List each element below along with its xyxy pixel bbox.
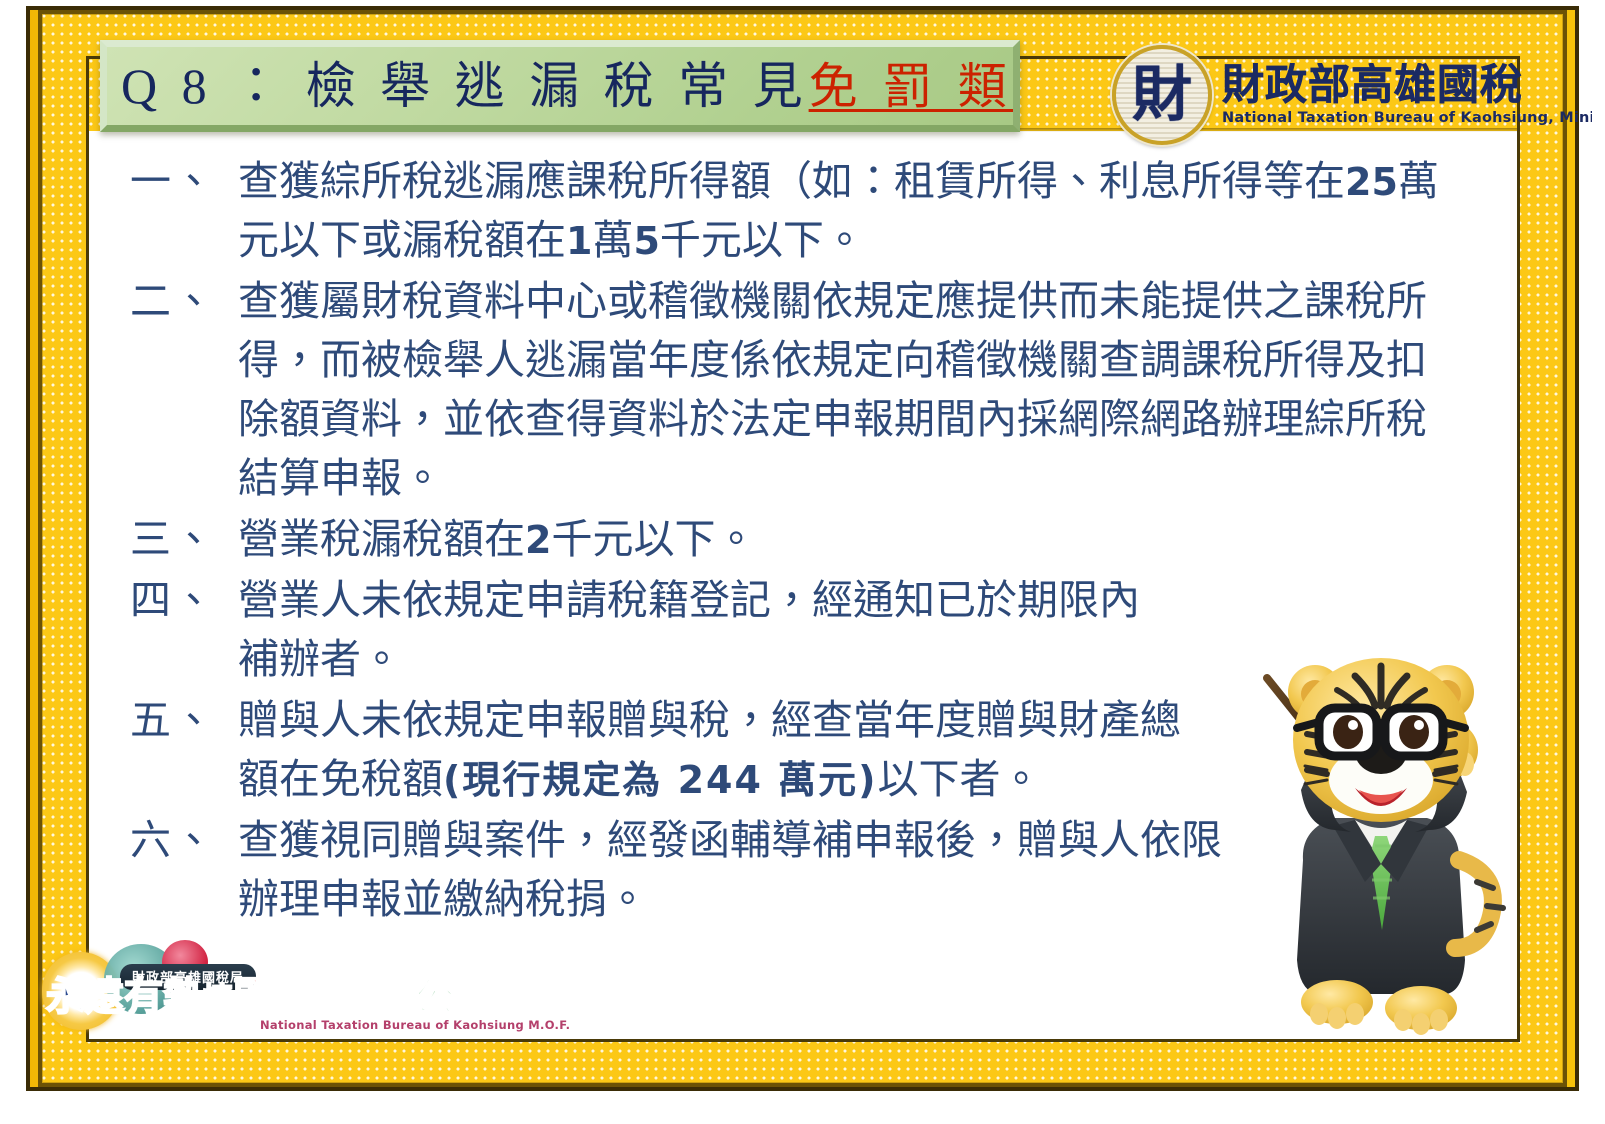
list-item-marker: 一、 [130, 152, 234, 211]
bureau-seal-glyph: 財 [1116, 49, 1208, 141]
slogan-english-label: National Taxation Bureau of Kaohsiung M.… [260, 1018, 570, 1032]
plain-text: 千元以下。 [551, 515, 756, 563]
plain-text: 除額資料，並依查得資料於法定申報期間內採網際網路辦理綜所稅 [238, 395, 1427, 443]
slogan-word: 遠 [85, 975, 124, 1020]
plain-text: 元以下或漏稅額在 [238, 216, 566, 264]
plain-text: 查獲視同贈與案件，經發函輔導補申報後，贈與人依限 [238, 816, 1222, 864]
list-item-marker: 五、 [130, 691, 234, 750]
list-item-text: 贈與人未依規定申報贈與稅，經查當年度贈與財產總額在免稅額(現行規定為 244 萬… [238, 696, 1181, 803]
plain-text: 補辦者。 [238, 635, 402, 683]
plain-text: 以下者。 [878, 755, 1042, 803]
plain-text: 營業稅漏稅額在 [238, 515, 525, 563]
slogan-word: 情 [202, 982, 233, 1018]
slogan-logo: 財政部高雄國稅局 永遠有熱情堅持創新與公平 National Taxation … [36, 938, 506, 1036]
bureau-logo-text: 財政部高雄國稅 National Taxation Bureau of Kaoh… [1222, 63, 1592, 125]
slogan-word: 有 [124, 975, 163, 1020]
list-item-text: 營業人未依規定申請稅籍登記，經通知已於期限內補辦者。 [238, 576, 1140, 683]
slogan-word: 與 [376, 975, 415, 1020]
bureau-seal-icon: 財 [1112, 45, 1212, 145]
bureau-logo: 財 財政部高雄國稅 National Taxation Bureau of Ka… [1112, 42, 1592, 147]
title-highlight: 免 罰 類 型 [809, 58, 1020, 115]
slide-canvas: Q 8 ： 檢 舉 逃 漏 稅 常 見免 罰 類 型有 哪 些 財 財政部高雄國… [0, 0, 1605, 1124]
title-prefix: Q 8 ： 檢 舉 逃 漏 稅 常 見 [121, 58, 809, 114]
plain-text: 查獲屬財稅資料中心或稽徵機關依規定應提供而未能提供之課稅所 [238, 277, 1427, 325]
slogan-main-text: 永遠有熱情堅持創新與公平 [46, 978, 493, 1017]
slogan-word: 公平 [415, 975, 493, 1020]
list-item: 三、營業稅漏稅額在2千元以下。 [130, 510, 1470, 569]
emphasis-text: 1 [566, 219, 592, 263]
plain-text: 查獲綜所稅逃漏應課稅所得額（如：租賃所得、利息所得等在 [238, 157, 1345, 205]
plain-text: 額在免稅額 [238, 755, 443, 803]
bureau-name-chinese: 財政部高雄國稅 [1222, 63, 1592, 107]
list-item-text: 查獲綜所稅逃漏應課稅所得額（如：租賃所得、利息所得等在25萬元以下或漏稅額在1萬… [238, 157, 1439, 264]
list-item-text: 營業稅漏稅額在2千元以下。 [238, 515, 756, 563]
plain-text: 萬 [1398, 157, 1439, 205]
list-item-marker: 三、 [130, 510, 234, 569]
plain-text: 營業人未依規定申請稅籍登記，經通知已於期限內 [238, 576, 1140, 624]
bureau-name-english: National Taxation Bureau of Kaohsiung, M… [1222, 110, 1592, 126]
plain-text: 贈與人未依規定申報贈與稅，經查當年度贈與財產總 [238, 696, 1181, 744]
slogan-word: 創 [311, 975, 350, 1020]
plain-text: 辦理申報並繳納稅捐。 [238, 875, 648, 923]
emphasis-text: (現行規定為 244 萬元) [443, 758, 878, 802]
title-plaque: Q 8 ： 檢 舉 逃 漏 稅 常 見免 罰 類 型有 哪 些 [100, 40, 1020, 132]
list-item-marker: 二、 [130, 272, 234, 331]
emphasis-text: 2 [525, 518, 551, 562]
emphasis-text: 25 [1345, 160, 1398, 204]
tiger-mascot-icon [1215, 630, 1545, 1045]
list-item-marker: 六、 [130, 811, 234, 870]
emphasis-text: 5 [633, 219, 659, 263]
slogan-word: 堅持 [233, 975, 311, 1020]
plain-text: 萬 [592, 216, 633, 264]
list-item: 一、查獲綜所稅逃漏應課稅所得額（如：租賃所得、利息所得等在25萬元以下或漏稅額在… [130, 152, 1470, 270]
slogan-word: 熱 [163, 975, 202, 1020]
list-item: 二、查獲屬財稅資料中心或稽徵機關依規定應提供而未能提供之課稅所得，而被檢舉人逃漏… [130, 272, 1470, 508]
slogan-word: 永 [46, 975, 85, 1020]
slogan-word: 新 [350, 987, 376, 1017]
plain-text: 得，而被檢舉人逃漏當年度係依規定向稽徵機關查調課稅所得及扣 [238, 336, 1427, 384]
page-title: Q 8 ： 檢 舉 逃 漏 稅 常 見免 罰 類 型有 哪 些 [107, 61, 1020, 111]
list-item-text: 查獲視同贈與案件，經發函輔導補申報後，贈與人依限辦理申報並繳納稅捐。 [238, 816, 1222, 923]
list-item-text: 查獲屬財稅資料中心或稽徵機關依規定應提供而未能提供之課稅所得，而被檢舉人逃漏當年… [238, 277, 1427, 502]
plain-text: 千元以下。 [660, 216, 865, 264]
plain-text: 結算申報。 [238, 454, 443, 502]
list-item-marker: 四、 [130, 571, 234, 630]
